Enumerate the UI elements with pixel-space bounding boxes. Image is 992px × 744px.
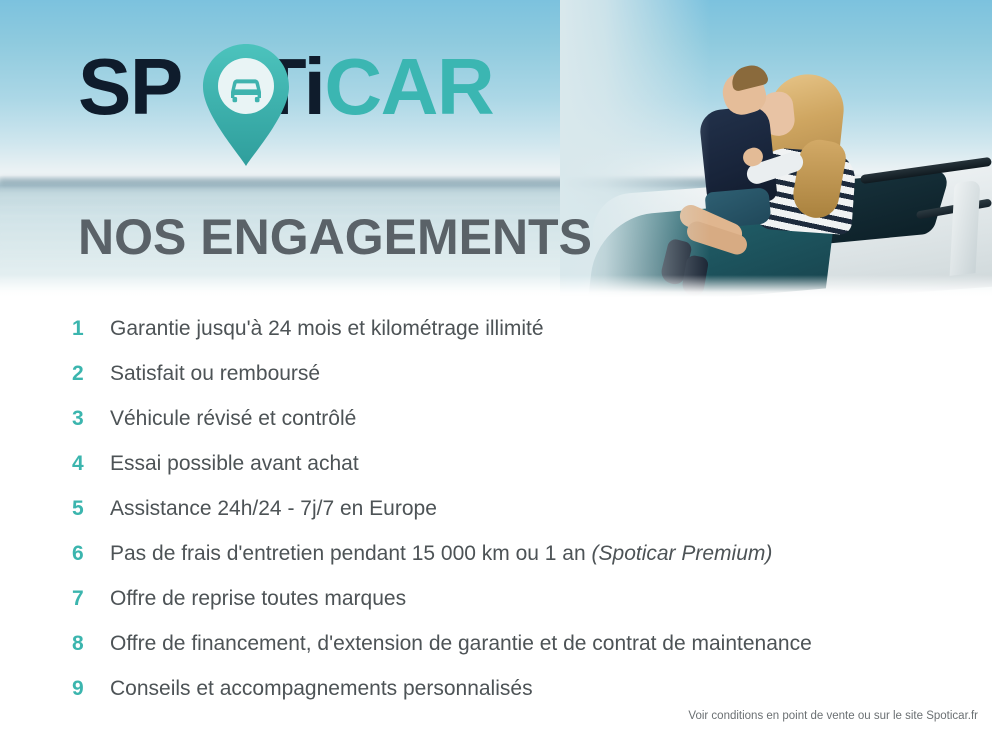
commitment-text: Conseils et accompagnements personnalisé… [110,678,533,699]
page-title: NOS ENGAGEMENTS [78,212,592,262]
commitment-text-emphasis: (Spoticar Premium) [592,542,773,565]
commitment-text-main: Conseils et accompagnements personnalisé… [110,677,533,700]
commitment-text: Essai possible avant achat [110,453,359,474]
commitment-text-main: Offre de financement, d'extension de gar… [110,632,812,655]
commitment-number: 3 [72,408,110,429]
spoticar-commitments-page: SPTiCAR NOS ENGAGEMENTS 1Garantie jusq [0,0,992,744]
commitment-text-main: Garantie jusqu'à 24 mois et kilométrage … [110,317,544,340]
commitment-item: 1Garantie jusqu'à 24 mois et kilométrage… [0,318,992,363]
map-pin-car-icon [201,42,291,168]
logo-text-sp: SP [78,42,182,131]
commitment-number: 6 [72,543,110,564]
commitment-number: 8 [72,633,110,654]
commitment-text: Assistance 24h/24 - 7j/7 en Europe [110,498,437,519]
commitment-text-main: Essai possible avant achat [110,452,359,475]
commitment-item: 8Offre de financement, d'extension de ga… [0,633,992,678]
commitment-number: 1 [72,318,110,339]
commitment-text-main: Assistance 24h/24 - 7j/7 en Europe [110,497,437,520]
commitment-item: 2Satisfait ou remboursé [0,363,992,408]
commitment-text-main: Offre de reprise toutes marques [110,587,406,610]
car-pillar-shape [950,180,981,276]
commitment-text: Pas de frais d'entretien pendant 15 000 … [110,543,772,564]
commitment-item: 7Offre de reprise toutes marques [0,588,992,633]
hero-photo [560,0,992,297]
commitment-text: Offre de reprise toutes marques [110,588,406,609]
commitment-number: 7 [72,588,110,609]
commitment-text: Offre de financement, d'extension de gar… [110,633,812,654]
commitment-item: 5Assistance 24h/24 - 7j/7 en Europe [0,498,992,543]
commitments-list: 1Garantie jusqu'à 24 mois et kilométrage… [0,318,992,723]
commitment-text: Satisfait ou remboursé [110,363,320,384]
commitment-number: 4 [72,453,110,474]
footer-disclaimer: Voir conditions en point de vente ou sur… [688,710,978,722]
commitment-text: Garantie jusqu'à 24 mois et kilométrage … [110,318,544,339]
commitment-text-main: Véhicule révisé et contrôlé [110,407,356,430]
hero-bottom-fade [0,275,992,297]
commitment-text-main: Satisfait ou remboursé [110,362,320,385]
commitment-number: 9 [72,678,110,699]
commitment-item: 4Essai possible avant achat [0,453,992,498]
hero-banner: SPTiCAR NOS ENGAGEMENTS [0,0,992,297]
commitment-item: 6Pas de frais d'entretien pendant 15 000… [0,543,992,588]
commitment-item: 3Véhicule révisé et contrôlé [0,408,992,453]
commitment-number: 2 [72,363,110,384]
commitment-text-main: Pas de frais d'entretien pendant 15 000 … [110,542,592,565]
commitment-number: 5 [72,498,110,519]
logo-text-car: CAR [324,42,493,131]
commitment-text: Véhicule révisé et contrôlé [110,408,356,429]
